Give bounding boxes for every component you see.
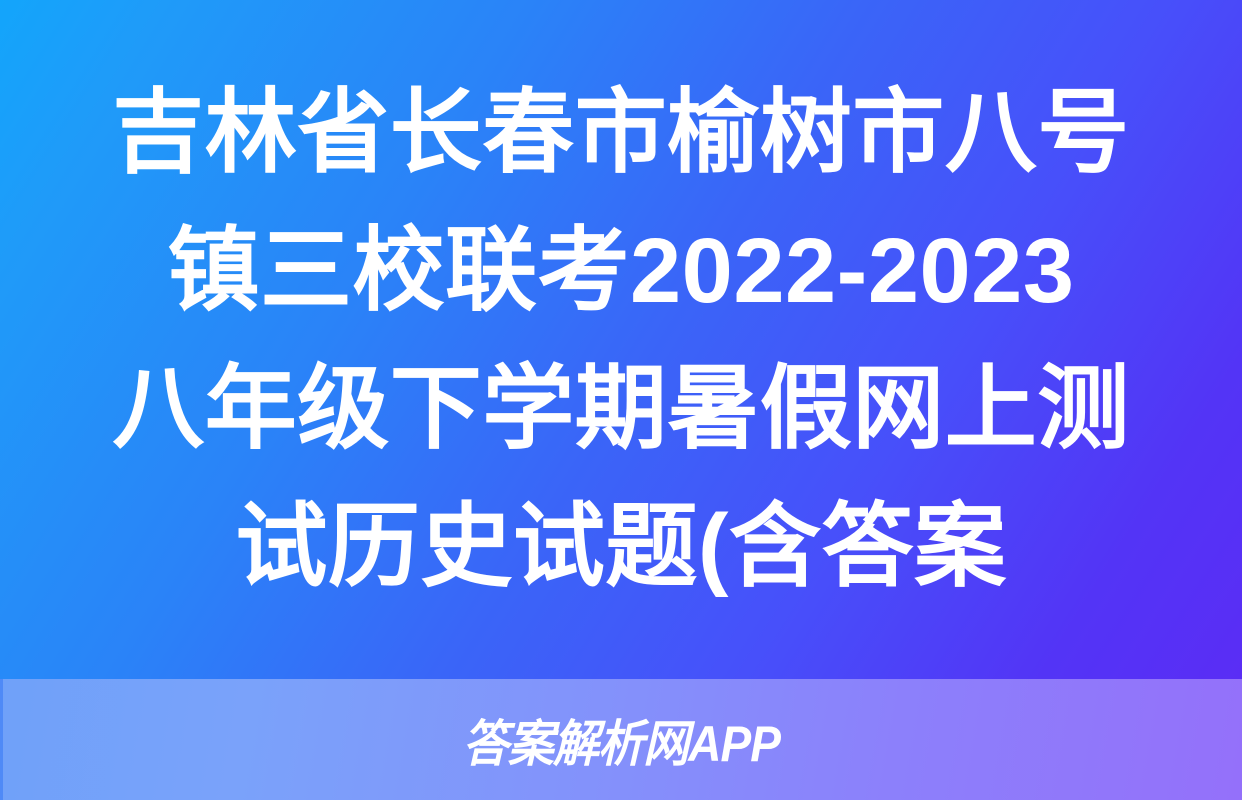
footer-watermark-band: 答案解析网APP: [0, 679, 1242, 800]
app-watermark-label: 答案解析网APP: [462, 704, 779, 776]
title-line-2: 镇三校联考2022-2023: [168, 202, 1075, 340]
page-title: 吉林省长春市榆树市八号 镇三校联考2022-2023 八年级下学期暑假网上测 试…: [0, 0, 1242, 679]
hero-gradient-panel: 吉林省长春市榆树市八号 镇三校联考2022-2023 八年级下学期暑假网上测 试…: [0, 0, 1242, 679]
document-cover-banner: 吉林省长春市榆树市八号 镇三校联考2022-2023 八年级下学期暑假网上测 试…: [0, 0, 1242, 800]
title-line-3: 八年级下学期暑假网上测: [112, 340, 1130, 478]
title-line-4: 试历史试题(含答案: [235, 478, 1006, 616]
title-line-1: 吉林省长春市榆树市八号: [112, 64, 1130, 202]
